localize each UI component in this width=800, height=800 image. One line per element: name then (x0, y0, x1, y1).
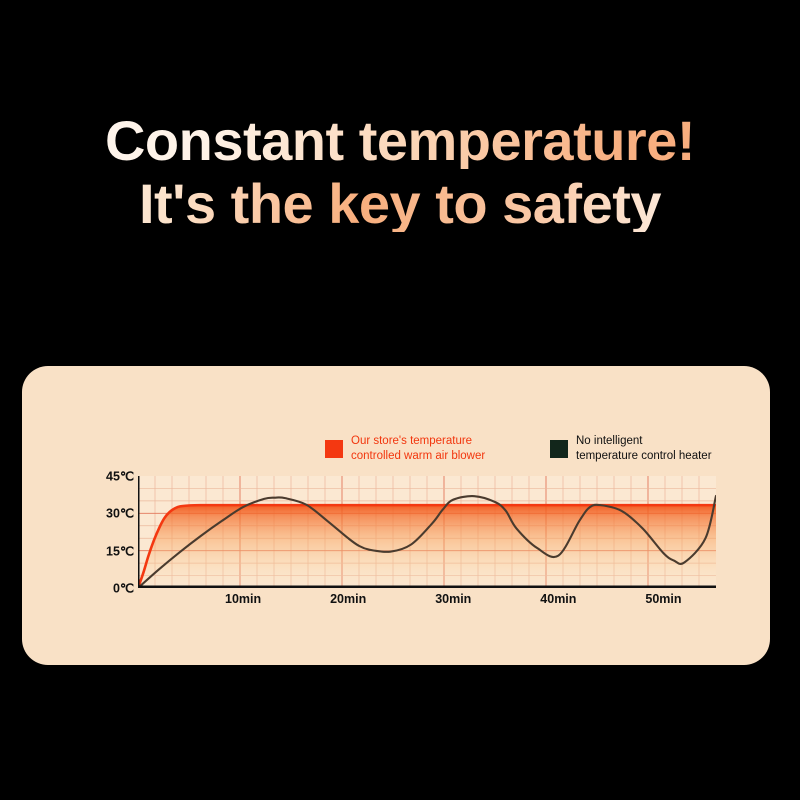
x-axis-tick: 40min (540, 592, 576, 606)
headline-block: Constant temperature! It's the key to sa… (0, 112, 800, 232)
y-axis-tick: 15℃ (106, 543, 134, 558)
chart-card: Our store's temperature controlled warm … (22, 366, 770, 665)
legend-swatch-ours-icon (325, 440, 343, 458)
legend-label-ours: Our store's temperature controlled warm … (351, 434, 485, 463)
y-axis-tick: 45℃ (106, 469, 134, 484)
x-axis-tick: 10min (225, 592, 261, 606)
legend-swatch-theirs-icon (550, 440, 568, 458)
temperature-chart: 45℃30℃15℃0℃ 10min20min30min40min50min (96, 476, 716, 606)
x-axis-tick: 30min (435, 592, 471, 606)
y-axis-tick: 0℃ (113, 581, 134, 596)
x-axis-tick: 20min (330, 592, 366, 606)
headline-line-1: Constant temperature! (0, 112, 800, 169)
chart-plot-area (138, 476, 716, 588)
y-axis-labels: 45℃30℃15℃0℃ (96, 476, 138, 588)
headline-line-2: It's the key to safety (0, 175, 800, 232)
legend-item-ours: Our store's temperature controlled warm … (325, 434, 485, 463)
legend-label-theirs: No intelligent temperature control heate… (576, 434, 712, 463)
legend-item-theirs: No intelligent temperature control heate… (550, 434, 712, 463)
x-axis-labels: 10min20min30min40min50min (138, 592, 716, 612)
y-axis-tick: 30℃ (106, 506, 134, 521)
x-axis-tick: 50min (645, 592, 681, 606)
chart-legend: Our store's temperature controlled warm … (22, 434, 770, 476)
